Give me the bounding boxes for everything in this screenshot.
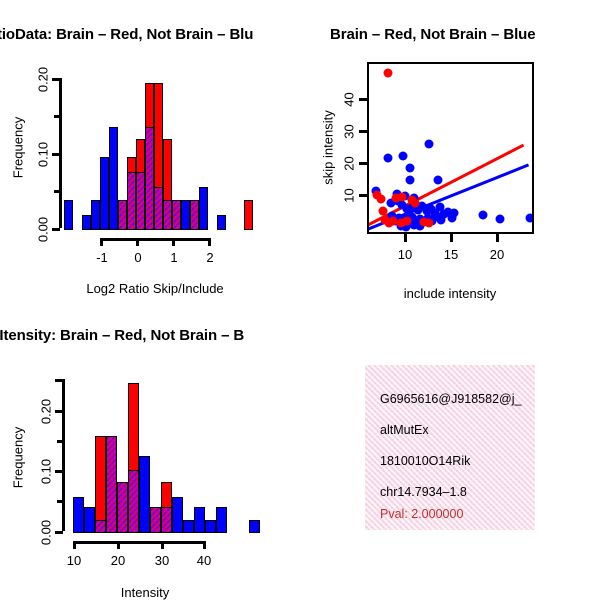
top-left-x-axis-title: Log2 Ratio Skip/Include: [40, 281, 270, 296]
top-right-y-ticklabel-20: 20: [342, 146, 357, 182]
bar-ov-b7: [161, 507, 172, 533]
bar-ov-b4b: [117, 482, 128, 533]
bar-nb-b10: [194, 507, 205, 533]
bar-ov-11: [172, 200, 181, 230]
top-left-y-ticklabel-020: 0.20: [36, 58, 51, 102]
bar-nb-b9: [183, 520, 194, 533]
bottom-left-x-axis-line: [73, 541, 205, 544]
gene-info-line-gene-symbol: 1810010O14Rik: [380, 454, 470, 468]
bar-b-b2: [95, 436, 106, 533]
bar-nb-16: [217, 215, 226, 230]
top-left-x-tick--1: [100, 238, 103, 246]
top-left-x-ticklabel-2: 2: [194, 250, 226, 265]
top-right-y-ticklabel-40: 40: [342, 82, 357, 118]
scatter-point: [450, 209, 459, 218]
bottom-left-x-ticklabel-10: 10: [58, 553, 90, 568]
bar-ov-8: [145, 127, 154, 230]
bar-b-20: [244, 200, 253, 230]
bar-nb-0: [64, 200, 73, 230]
top-left-y-tick-015: [54, 115, 60, 118]
bottom-left-x-tick-40: [203, 541, 206, 549]
top-right-y-tick-20: [359, 162, 367, 165]
bar-nb-5: [109, 127, 118, 230]
bar-ov-b5: [128, 470, 139, 533]
top-right-y-ticklabel-10: 10: [342, 178, 357, 214]
scatter-point-outlier: [384, 69, 393, 78]
scatter-plot-frame: [367, 62, 534, 234]
bar-nb-2: [82, 215, 91, 230]
panel-top-left-title: RatioData: Brain – Red, Not Brain – Blu: [0, 26, 253, 43]
bottom-left-y-axis-title: Frequency: [11, 418, 26, 498]
scatter-point: [377, 195, 386, 204]
top-left-x-tick-0: [136, 238, 139, 246]
panel-bottom-left: ne Itensity: Brain – Red, Not Brain – B …: [0, 300, 300, 600]
top-right-y-ticklabel-30: 30: [342, 114, 357, 150]
scatter-point: [526, 214, 535, 223]
top-right-x-ticklabel-15: 15: [435, 247, 467, 262]
bar-nb-12: [181, 200, 190, 230]
bar-ov-7: [136, 172, 145, 230]
bottom-left-x-tick-20: [117, 541, 120, 549]
panel-top-right-title: Brain – Red, Not Brain – Blue: [330, 26, 535, 43]
bottom-left-x-ticklabel-40: 40: [188, 553, 220, 568]
bottom-left-y-tick-010: [55, 470, 63, 473]
top-left-y-ticklabel-000: 0.00: [36, 208, 51, 252]
scatter-point: [434, 176, 443, 185]
panel-top-left: RatioData: Brain – Red, Not Brain – Blu …: [0, 0, 300, 300]
top-left-x-ticklabel-1: 1: [158, 250, 190, 265]
bottom-left-x-ticklabel-30: 30: [146, 553, 178, 568]
bottom-left-x-tick-10: [73, 541, 76, 549]
bar-ov-10: [163, 200, 172, 230]
top-left-y-tick-010: [52, 153, 60, 156]
gene-info-line-event-type: altMutEx: [380, 423, 429, 437]
scatter-point: [398, 193, 407, 202]
top-left-y-ticklabel-010: 0.10: [36, 133, 51, 177]
bottom-left-y-tick-top: [55, 379, 63, 382]
scatter-point: [406, 164, 415, 173]
panel-bottom-right: G6965616@J918582@j_ altMutEx 1810010O14R…: [300, 300, 600, 600]
top-left-x-axis-line: [100, 238, 210, 241]
bottom-left-y-tick-000: [55, 531, 63, 534]
bottom-left-x-tick-30: [161, 541, 164, 549]
bottom-left-y-tick-015: [57, 440, 63, 443]
bar-ov-b6b: [150, 507, 161, 533]
top-left-x-ticklabel-0: 0: [122, 250, 154, 265]
top-right-x-tick-15: [450, 234, 453, 242]
bar-nb-b8: [172, 497, 183, 533]
top-left-y-tick-000: [52, 228, 60, 231]
top-right-x-tick-10: [404, 234, 407, 242]
scatter-point: [384, 154, 393, 163]
top-left-x-tick-1: [172, 238, 175, 246]
top-left-y-tick-005: [54, 190, 60, 193]
top-right-x-ticklabel-10: 10: [389, 247, 421, 262]
panel-bottom-left-title: ne Itensity: Brain – Red, Not Brain – B: [0, 327, 244, 344]
bar-nb-b5b: [139, 456, 150, 533]
top-right-x-axis-title: include intensity: [345, 286, 555, 301]
bottom-left-x-axis-title: Intensity: [55, 585, 235, 600]
scatter-point: [399, 152, 408, 161]
top-right-x-tick-20: [496, 234, 499, 242]
scatter-point: [406, 176, 415, 185]
top-right-y-tick-10: [359, 194, 367, 197]
bottom-left-x-ticklabel-20: 20: [102, 553, 134, 568]
top-left-x-tick-2: [208, 238, 211, 246]
scatter-point: [437, 216, 446, 225]
bar-ov-b6: [139, 531, 141, 533]
bottom-left-y-ticklabel-000: 0.00: [39, 511, 54, 555]
top-left-y-tick-020: [52, 78, 60, 81]
top-left-bars-region: [64, 78, 254, 230]
bottom-left-y-tick-005: [57, 500, 63, 503]
bottom-left-y-tick-020: [55, 410, 63, 413]
panel-top-right: Brain – Red, Not Brain – Blue skip inten…: [300, 0, 600, 300]
bar-nb-b11: [205, 520, 216, 533]
scatter-point: [479, 211, 488, 220]
bar-nb-b14: [249, 520, 260, 533]
bottom-left-y-ticklabel-010: 0.10: [39, 450, 54, 494]
bar-ov-13: [190, 200, 199, 230]
bottom-left-y-axis-line: [62, 379, 65, 531]
top-left-y-axis-title: Frequency: [11, 108, 26, 188]
top-right-x-ticklabel-20: 20: [481, 247, 513, 262]
gene-info-box: G6965616@J918582@j_ altMutEx 1810010O14R…: [365, 365, 535, 530]
bar-nb-3: [91, 200, 100, 230]
bottom-left-y-ticklabel-020: 0.20: [39, 390, 54, 434]
top-right-y-axis-title: skip intensity: [321, 93, 336, 203]
bar-nb-b12: [216, 507, 227, 533]
gene-info-line-pval: Pval: 2.000000: [380, 507, 463, 521]
scatter-point: [411, 199, 420, 208]
bar-nb-4: [100, 157, 109, 230]
bar-nb-b0: [73, 497, 84, 533]
bar-ov-5: [118, 200, 127, 230]
scatter-point: [496, 215, 505, 224]
top-left-x-ticklabel--1: -1: [86, 250, 118, 265]
top-right-y-tick-30: [359, 130, 367, 133]
bar-ov-b2: [95, 520, 106, 533]
scatter-point: [425, 140, 434, 149]
scatter-point: [379, 207, 388, 216]
bar-nb-14: [199, 187, 208, 230]
scatter-point: [403, 217, 412, 226]
gene-info-line-locus: chr14.7934–1.8: [380, 485, 467, 499]
gene-info-line-id: G6965616@J918582@j_: [380, 392, 521, 406]
bottom-left-bars-region: [73, 379, 233, 533]
bar-ov-b3: [106, 436, 117, 533]
scatter-point: [425, 219, 434, 228]
bar-ov-6: [127, 172, 136, 230]
bar-ov-9: [154, 187, 163, 230]
bar-nb-b1: [84, 507, 95, 533]
top-right-y-tick-40: [359, 98, 367, 101]
